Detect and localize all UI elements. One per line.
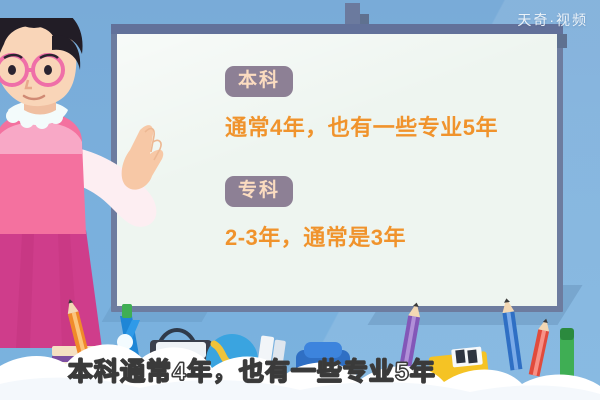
- whiteboard-mount-bracket: [345, 3, 360, 25]
- badge-undergraduate: 本科: [225, 66, 293, 97]
- teacher-hand: [122, 125, 164, 190]
- teacher-collar-scallop-2: [20, 114, 34, 128]
- board-block-undergraduate: 本科 通常4年，也有一些专业5年: [225, 66, 545, 142]
- whiteboard-content: 本科 通常4年，也有一些专业5年 专科 2-3年，通常是3年: [225, 66, 545, 286]
- channel-watermark: 天奇·视频: [517, 10, 588, 30]
- board-block-junior-college: 专科 2-3年，通常是3年: [225, 176, 545, 252]
- teacher-eye-right: [44, 65, 52, 75]
- badge-junior-college: 专科: [225, 176, 293, 207]
- board-line-junior-college: 2-3年，通常是3年: [225, 220, 545, 252]
- board-line-undergraduate: 通常4年，也有一些专业5年: [225, 110, 545, 142]
- subtitle-caption: 本科通常4年，也有一些专业5年: [0, 352, 600, 388]
- teacher-collar-scallop-1: [6, 109, 20, 123]
- board-block-spacer: [225, 142, 545, 176]
- teacher-eye-left: [8, 65, 16, 75]
- teacher-collar-scallop-3: [35, 115, 49, 129]
- video-frame: 本科 通常4年，也有一些专业5年 专科 2-3年，通常是3年 天奇·视频: [0, 0, 600, 400]
